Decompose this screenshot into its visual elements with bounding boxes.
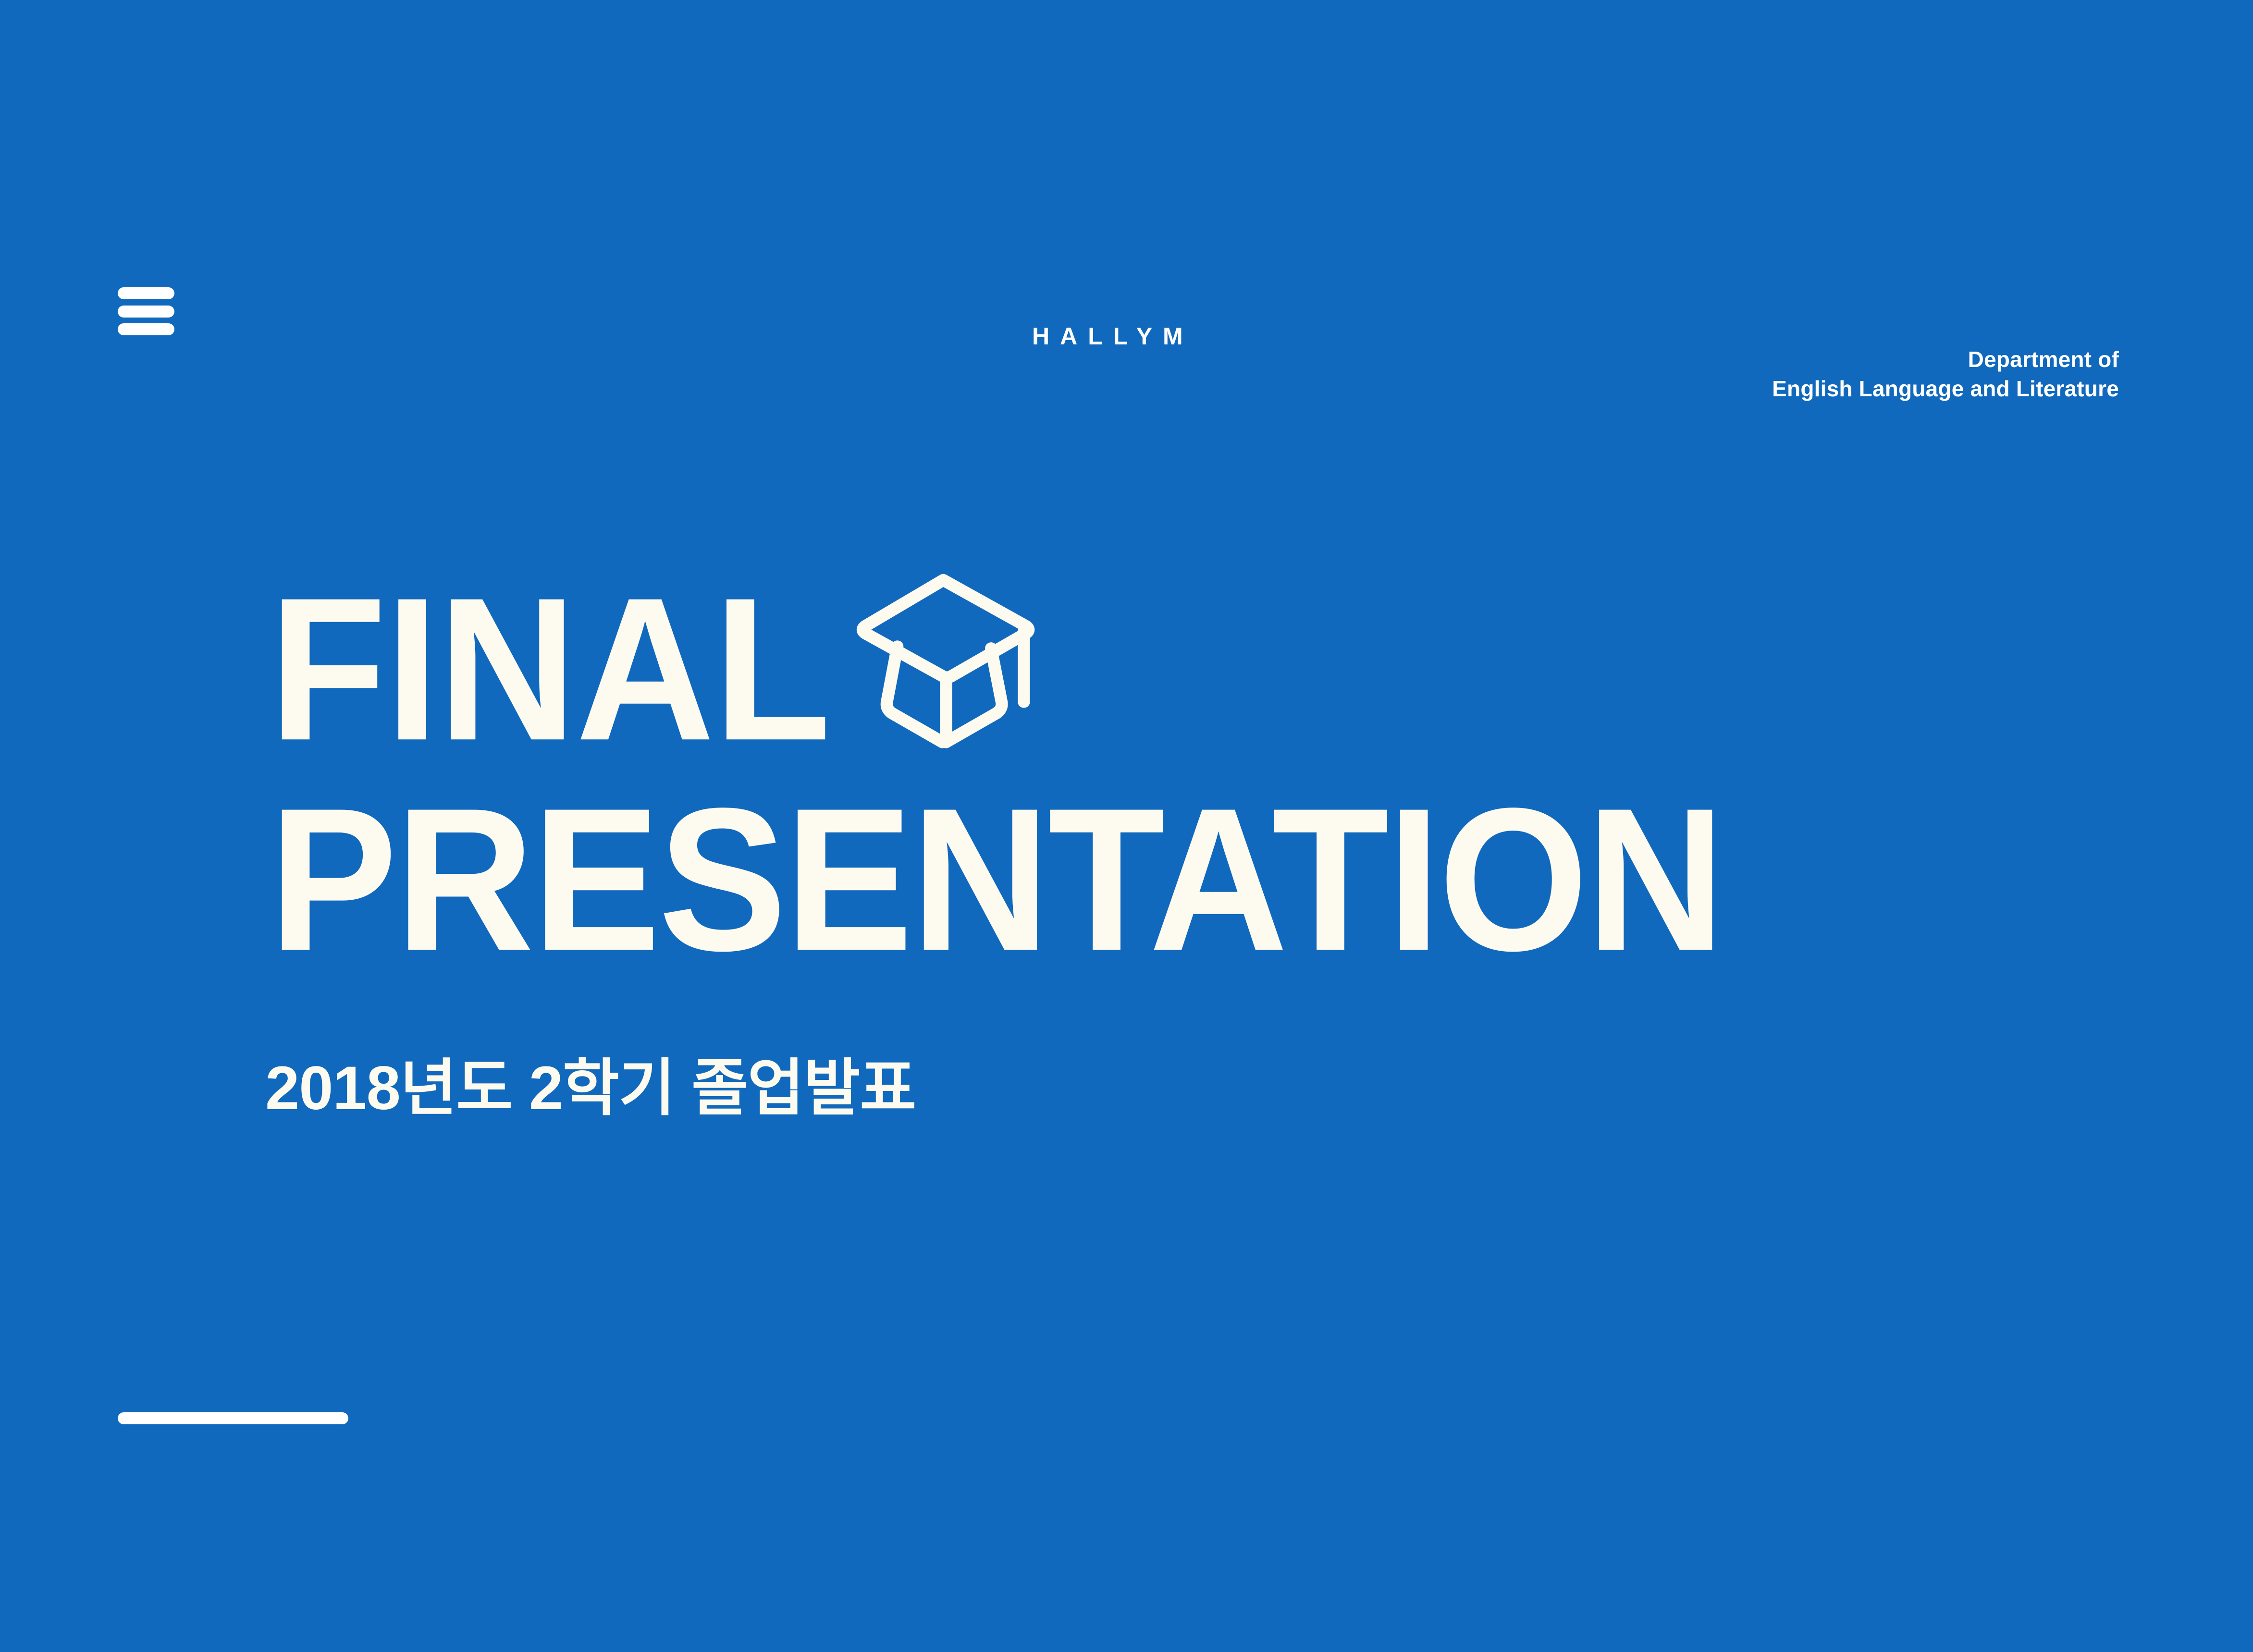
decorative-rule <box>118 1412 348 1424</box>
department-line-2: English Language and Literature <box>1772 374 2119 404</box>
page-title: FINAL PRESENTATION <box>269 560 1723 980</box>
title-line-1: FINAL <box>269 560 1723 779</box>
graduation-cap-icon <box>853 568 1041 760</box>
department-line-1: Department of <box>1772 345 2119 374</box>
menu-bar-top <box>118 287 174 299</box>
menu-bar-middle <box>118 306 174 318</box>
subtitle: 2018년도 2학기 졸업발표 <box>265 1058 916 1119</box>
department-block: Department of English Language and Liter… <box>1772 345 2119 403</box>
title-word-final: FINAL <box>269 553 830 785</box>
menu-bar-bottom <box>118 323 174 335</box>
hamburger-menu-icon[interactable] <box>118 287 174 335</box>
presentation-slide: HALLYM Department of English Language an… <box>0 0 2253 1652</box>
title-word-presentation: PRESENTATION <box>269 772 1723 986</box>
brand-name: HALLYM <box>1032 324 1194 348</box>
title-line-2: PRESENTATION <box>269 779 1723 980</box>
